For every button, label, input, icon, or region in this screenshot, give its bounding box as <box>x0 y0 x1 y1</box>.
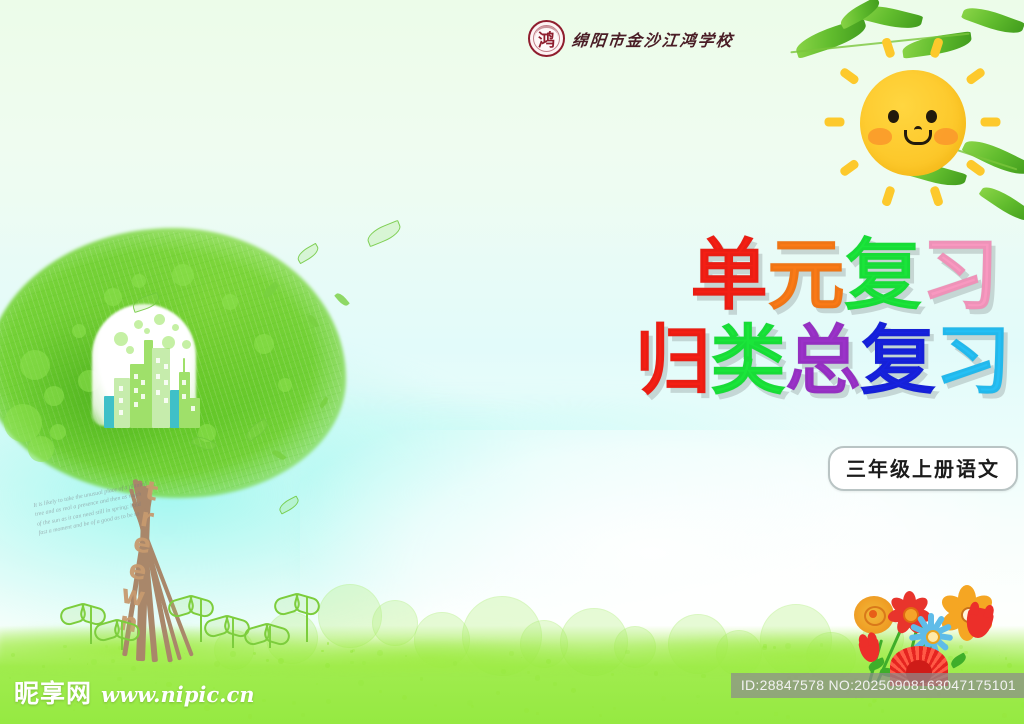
cutout-bubble <box>162 336 175 349</box>
grass-speck <box>661 696 666 701</box>
grass-speck <box>553 682 556 685</box>
grass-speck <box>785 643 791 649</box>
sun-mouth <box>904 130 932 145</box>
canopy-dot <box>28 436 54 462</box>
canopy-dot <box>254 334 274 354</box>
grass-speck <box>266 659 268 661</box>
city-window <box>156 358 160 363</box>
cutout-bubble <box>154 314 165 325</box>
sun-illustration <box>838 48 988 198</box>
grass-speck <box>611 673 614 676</box>
city-window <box>164 398 168 403</box>
city-window <box>182 394 186 399</box>
canopy-dot <box>50 424 66 440</box>
sprout <box>112 622 132 650</box>
grass-speck <box>535 675 541 681</box>
title-char: 总 <box>785 325 860 396</box>
grass-speck <box>762 646 767 651</box>
city-window <box>134 388 138 393</box>
cutout-bubble <box>114 332 128 346</box>
grass-speck <box>613 707 616 710</box>
title-char: 习 <box>935 325 1010 396</box>
canopy-dot <box>222 294 238 310</box>
tree-canopy <box>0 228 346 498</box>
city-window <box>182 380 186 385</box>
sun-ray <box>965 158 986 177</box>
grass-speck <box>278 658 284 664</box>
sprout <box>292 596 322 642</box>
grass-speck <box>292 701 296 705</box>
cutout-bubble <box>126 346 134 354</box>
grass-speck <box>248 714 252 718</box>
city-window <box>141 380 145 385</box>
sun-ray <box>839 158 860 177</box>
city-window <box>156 390 160 395</box>
canopy-dot <box>132 274 146 288</box>
sprout-leaf-right <box>186 595 216 619</box>
watermark-nipic: 昵享网 www.nipic.cn <box>14 674 255 710</box>
sun-ray <box>965 67 986 86</box>
grass-speck <box>509 651 514 656</box>
title-char: 复 <box>860 325 935 396</box>
grass-speck <box>214 661 220 667</box>
sun-cheek-right <box>934 128 958 145</box>
cutout-bubble <box>144 328 150 334</box>
title-block: 单 元 复 习 归 类 总 复 习 <box>540 240 1010 397</box>
grass-speck <box>599 714 602 717</box>
canopy-dot <box>278 378 292 392</box>
watermark-site-name: 昵享网 <box>14 674 92 710</box>
sun-cheek-left <box>868 128 892 145</box>
city-window <box>119 398 123 403</box>
grass-speck <box>253 652 256 655</box>
canopy-dot <box>104 288 122 306</box>
grass-speck <box>774 712 778 716</box>
grass-speck <box>91 659 97 665</box>
grass-speck <box>524 708 529 713</box>
city-building <box>188 398 200 428</box>
grass-speck <box>402 695 407 700</box>
grass-speck <box>111 659 115 663</box>
sun-ray <box>981 118 1001 127</box>
city-window <box>156 374 160 379</box>
grass-speck <box>1002 713 1007 718</box>
grass-speck <box>105 645 108 648</box>
city-window <box>134 402 138 407</box>
school-seal-icon: 鸿 <box>528 20 565 57</box>
title-char: 复 <box>844 240 921 313</box>
sun-ray <box>839 67 860 86</box>
canopy-dot <box>72 324 86 338</box>
grass-speck <box>453 661 457 665</box>
cutout-bubble <box>134 320 143 329</box>
grass-speck <box>230 651 235 656</box>
city-antenna <box>183 358 185 374</box>
city-window <box>119 386 123 391</box>
sprout <box>262 626 278 648</box>
watermark-url: www.nipic.cn <box>101 682 255 707</box>
title-char: 元 <box>767 240 844 313</box>
grass-speck <box>379 690 382 693</box>
cutout-bubble <box>182 340 191 349</box>
canopy-dot <box>172 264 194 286</box>
grass-speck <box>501 669 506 674</box>
sun-face <box>860 70 966 176</box>
title-line-1: 单 元 复 习 <box>540 240 998 313</box>
grass-speck <box>625 650 629 654</box>
sun-eye-right <box>926 110 937 123</box>
grass-speck <box>701 674 706 679</box>
grass-speck <box>546 659 551 664</box>
grass-speck <box>377 650 383 656</box>
flower-bouquet <box>846 556 1016 691</box>
city-window <box>141 394 145 399</box>
grass-speck <box>42 665 44 667</box>
title-char: 单 <box>690 240 767 313</box>
title-char: 习 <box>921 240 998 313</box>
sun-eye-left <box>888 110 899 123</box>
canopy-dot <box>20 350 50 380</box>
canopy-dot <box>44 386 64 406</box>
sprout-leaf-right <box>292 593 322 617</box>
grass-speck <box>358 680 364 686</box>
title-char: 类 <box>710 325 785 396</box>
rose-core <box>869 610 877 618</box>
city-window <box>119 410 123 415</box>
grass-speck <box>521 657 522 658</box>
poster-canvas: It is likely to take the unusual place o… <box>0 0 1024 724</box>
sun-ray <box>825 118 845 127</box>
city-window <box>164 364 168 369</box>
flower-center <box>926 630 940 644</box>
seal-glyph: 鸿 <box>530 26 563 51</box>
sprout <box>222 618 244 648</box>
city-window <box>134 374 138 379</box>
school-logo: 鸿 绵阳市金沙江鸿学校 <box>528 20 734 57</box>
title-char: 归 <box>635 325 710 396</box>
school-name: 绵阳市金沙江鸿学校 <box>571 27 736 51</box>
city-window <box>164 380 168 385</box>
grass-speck <box>571 688 576 693</box>
city-window <box>191 406 195 411</box>
title-line-2: 归 类 总 复 习 <box>540 325 1010 396</box>
watermark-id: ID:28847578 NO:20250908163047175101 <box>731 673 1024 698</box>
grass-speck <box>467 700 473 706</box>
city-building <box>152 348 170 428</box>
cutout-bubble <box>172 324 179 331</box>
grass-speck <box>11 653 15 657</box>
grade-badge: 三年级上册语文 <box>828 446 1018 491</box>
grass-speck <box>536 712 539 715</box>
